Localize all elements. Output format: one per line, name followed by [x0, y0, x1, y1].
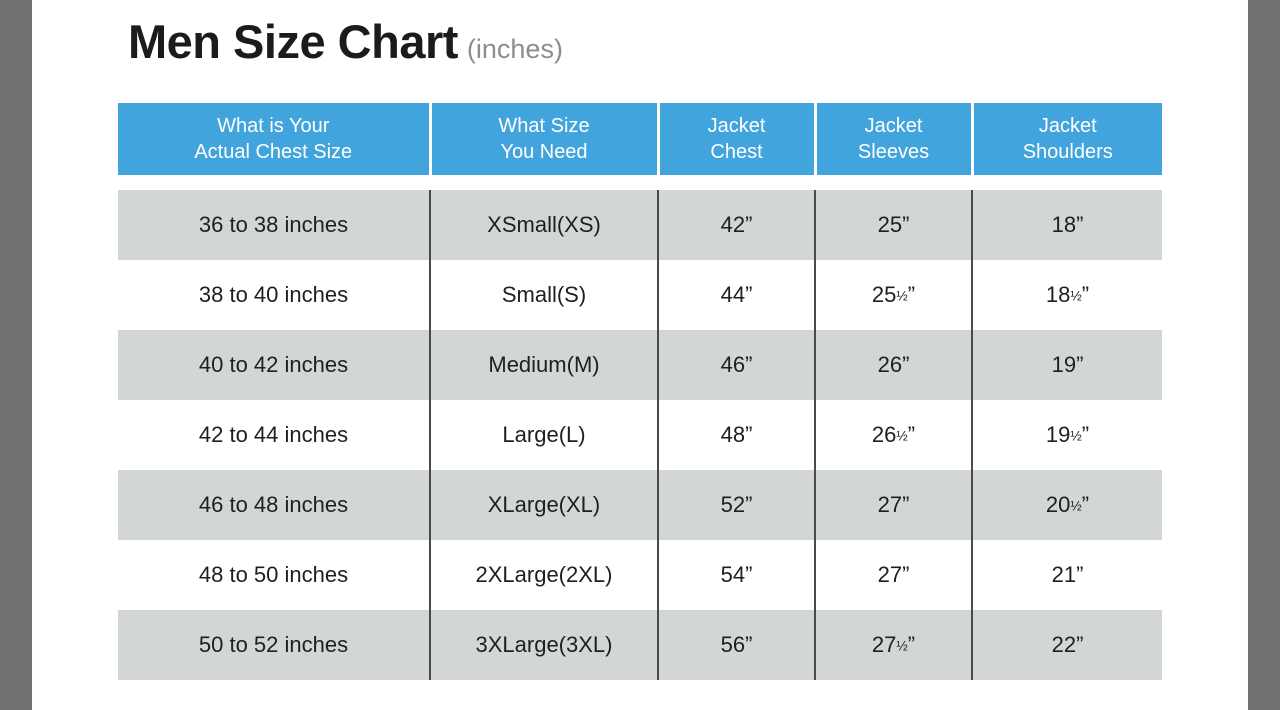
header-line-2: You Need — [436, 139, 653, 165]
cell-actual-chest-size: 40 to 42 inches — [118, 330, 430, 400]
cell-actual-chest-size: 38 to 40 inches — [118, 260, 430, 330]
header-line-2: Actual Chest Size — [122, 139, 425, 165]
cell-jacket-sleeves: 25” — [815, 190, 972, 260]
cell-size-you-need: XLarge(XL) — [430, 470, 658, 540]
table-body: 36 to 38 inchesXSmall(XS)42”25”18”38 to … — [118, 175, 1162, 680]
header-line-2: Shoulders — [978, 139, 1159, 165]
cell-jacket-sleeves: 27½” — [815, 610, 972, 680]
cell-jacket-sleeves: 26” — [815, 330, 972, 400]
slide-stage: Men Size Chart (inches) What is Your Act… — [0, 0, 1280, 710]
cell-jacket-shoulders: 19” — [972, 330, 1162, 400]
cell-actual-chest-size: 48 to 50 inches — [118, 540, 430, 610]
page-title-unit: (inches) — [467, 36, 563, 63]
header-row: What is Your Actual Chest Size What Size… — [118, 103, 1162, 175]
table-row: 50 to 52 inches3XLarge(3XL)56”27½”22” — [118, 610, 1162, 680]
cell-size-you-need: 3XLarge(3XL) — [430, 610, 658, 680]
table-row: 36 to 38 inchesXSmall(XS)42”25”18” — [118, 190, 1162, 260]
cell-jacket-sleeves: 25½” — [815, 260, 972, 330]
header-body-gap — [118, 175, 1162, 190]
cell-jacket-chest: 48” — [658, 400, 815, 470]
cell-size-you-need: XSmall(XS) — [430, 190, 658, 260]
header-line-2: Chest — [664, 139, 810, 165]
cell-jacket-shoulders: 18½” — [972, 260, 1162, 330]
header-line-1: Jacket — [821, 113, 967, 139]
cell-jacket-shoulders: 22” — [972, 610, 1162, 680]
header-line-1: Jacket — [664, 113, 810, 139]
column-header-jacket-sleeves: Jacket Sleeves — [815, 103, 972, 175]
table-row: 48 to 50 inches2XLarge(2XL)54”27”21” — [118, 540, 1162, 610]
slide-canvas: Men Size Chart (inches) What is Your Act… — [32, 0, 1248, 710]
size-chart-table: What is Your Actual Chest Size What Size… — [118, 103, 1162, 680]
cell-jacket-sleeves: 27” — [815, 470, 972, 540]
table-row: 40 to 42 inchesMedium(M)46”26”19” — [118, 330, 1162, 400]
header-line-1: Jacket — [978, 113, 1159, 139]
cell-jacket-chest: 44” — [658, 260, 815, 330]
cell-jacket-shoulders: 19½” — [972, 400, 1162, 470]
header-line-2: Sleeves — [821, 139, 967, 165]
column-header-jacket-chest: Jacket Chest — [658, 103, 815, 175]
cell-jacket-chest: 56” — [658, 610, 815, 680]
table-row: 38 to 40 inchesSmall(S)44”25½”18½” — [118, 260, 1162, 330]
cell-jacket-sleeves: 27” — [815, 540, 972, 610]
cell-size-you-need: Medium(M) — [430, 330, 658, 400]
cell-jacket-chest: 54” — [658, 540, 815, 610]
cell-jacket-chest: 42” — [658, 190, 815, 260]
cell-jacket-chest: 46” — [658, 330, 815, 400]
letterbox-left-bar — [0, 0, 32, 710]
cell-size-you-need: Small(S) — [430, 260, 658, 330]
table-header: What is Your Actual Chest Size What Size… — [118, 103, 1162, 175]
cell-jacket-chest: 52” — [658, 470, 815, 540]
page-title-main: Men Size Chart — [128, 18, 458, 65]
table-row: 46 to 48 inchesXLarge(XL)52”27”20½” — [118, 470, 1162, 540]
cell-actual-chest-size: 50 to 52 inches — [118, 610, 430, 680]
header-line-1: What Size — [436, 113, 653, 139]
column-header-size-you-need: What Size You Need — [430, 103, 658, 175]
cell-size-you-need: 2XLarge(2XL) — [430, 540, 658, 610]
page-title: Men Size Chart (inches) — [128, 18, 563, 65]
cell-jacket-shoulders: 21” — [972, 540, 1162, 610]
letterbox-right-bar — [1248, 0, 1280, 710]
cell-actual-chest-size: 46 to 48 inches — [118, 470, 430, 540]
cell-actual-chest-size: 36 to 38 inches — [118, 190, 430, 260]
cell-jacket-sleeves: 26½” — [815, 400, 972, 470]
table-row: 42 to 44 inchesLarge(L)48”26½”19½” — [118, 400, 1162, 470]
cell-actual-chest-size: 42 to 44 inches — [118, 400, 430, 470]
header-line-1: What is Your — [122, 113, 425, 139]
cell-jacket-shoulders: 20½” — [972, 470, 1162, 540]
cell-size-you-need: Large(L) — [430, 400, 658, 470]
column-header-actual-chest-size: What is Your Actual Chest Size — [118, 103, 430, 175]
cell-jacket-shoulders: 18” — [972, 190, 1162, 260]
column-header-jacket-shoulders: Jacket Shoulders — [972, 103, 1162, 175]
